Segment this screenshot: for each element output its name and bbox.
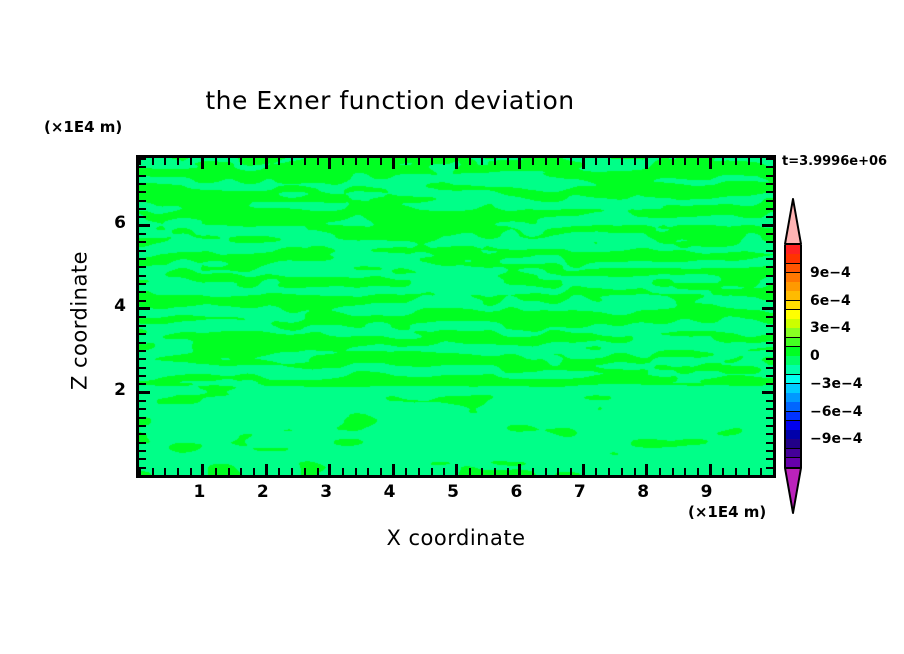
y-axis-minor-tick	[766, 367, 773, 369]
x-axis-minor-tick	[722, 158, 724, 165]
colorbar-over-arrow	[784, 198, 802, 245]
y-axis-minor-tick	[766, 400, 773, 402]
x-axis-minor-tick	[177, 158, 179, 165]
y-axis-major-tick	[139, 307, 150, 310]
y-axis-tick-label: 4	[86, 296, 126, 316]
x-axis-minor-tick	[164, 158, 166, 165]
colorbar-tick-label: 6e−4	[810, 293, 851, 309]
y-axis-minor-tick	[139, 367, 146, 369]
y-axis-minor-tick	[139, 417, 146, 419]
x-axis-minor-tick	[659, 158, 661, 165]
y-axis-minor-tick	[139, 316, 146, 318]
x-axis-minor-tick	[507, 158, 509, 165]
x-axis-minor-tick	[672, 158, 674, 165]
x-axis-minor-tick	[672, 468, 674, 475]
x-axis-minor-tick	[317, 158, 319, 165]
x-axis-title: X coordinate	[136, 528, 776, 549]
y-axis-minor-tick	[766, 467, 773, 469]
x-axis-minor-tick	[405, 468, 407, 475]
x-axis-tick-label: 2	[243, 482, 283, 502]
x-axis-minor-tick	[697, 158, 699, 165]
x-axis-minor-tick	[355, 158, 357, 165]
x-axis-minor-tick	[557, 158, 559, 165]
x-axis-minor-tick	[152, 468, 154, 475]
x-axis-minor-tick	[304, 158, 306, 165]
y-axis-minor-tick	[766, 158, 773, 160]
x-axis-major-tick	[265, 464, 268, 475]
y-axis-minor-tick	[139, 458, 146, 460]
x-axis-minor-tick	[545, 158, 547, 165]
x-axis-major-tick	[455, 464, 458, 475]
colorbar-tick-label: 9e−4	[810, 265, 851, 281]
x-axis-minor-tick	[367, 468, 369, 475]
x-axis-major-tick	[455, 158, 458, 169]
x-axis-minor-tick	[443, 158, 445, 165]
y-axis-minor-tick	[766, 425, 773, 427]
x-axis-minor-tick	[557, 468, 559, 475]
y-axis-major-tick	[762, 391, 773, 394]
x-axis-minor-tick	[291, 158, 293, 165]
y-axis-minor-tick	[139, 300, 146, 302]
x-axis-unit-label: (×1E4 m)	[688, 505, 766, 520]
y-axis-minor-tick	[139, 433, 146, 435]
x-axis-tick-label: 8	[623, 482, 663, 502]
x-axis-minor-tick	[659, 468, 661, 475]
x-axis-major-tick	[392, 464, 395, 475]
x-axis-minor-tick	[190, 468, 192, 475]
y-axis-minor-tick	[139, 383, 146, 385]
x-axis-major-tick	[201, 158, 204, 169]
y-axis-minor-tick	[766, 283, 773, 285]
x-axis-tick-label: 3	[306, 482, 346, 502]
x-axis-minor-tick	[494, 158, 496, 165]
y-axis-minor-tick	[766, 325, 773, 327]
y-axis-minor-tick	[139, 191, 146, 193]
x-axis-minor-tick	[621, 158, 623, 165]
y-axis-major-tick	[139, 224, 150, 227]
x-axis-minor-tick	[494, 468, 496, 475]
x-axis-minor-tick	[532, 158, 534, 165]
x-axis-major-tick	[709, 158, 712, 169]
x-axis-minor-tick	[228, 158, 230, 165]
x-axis-tick-label: 6	[496, 482, 536, 502]
y-axis-minor-tick	[766, 316, 773, 318]
y-axis-minor-tick	[766, 450, 773, 452]
x-axis-minor-tick	[177, 468, 179, 475]
y-axis-minor-tick	[139, 325, 146, 327]
y-axis-minor-tick	[766, 383, 773, 385]
x-axis-minor-tick	[760, 468, 762, 475]
y-axis-minor-tick	[766, 475, 773, 477]
x-axis-minor-tick	[164, 468, 166, 475]
timestamp-label: t=3.9996e+06	[782, 155, 887, 168]
y-axis-minor-tick	[139, 442, 146, 444]
x-axis-minor-tick	[355, 468, 357, 475]
x-axis-minor-tick	[634, 468, 636, 475]
x-axis-minor-tick	[760, 158, 762, 165]
x-axis-minor-tick	[608, 158, 610, 165]
x-axis-minor-tick	[380, 158, 382, 165]
x-axis-minor-tick	[190, 158, 192, 165]
y-axis-minor-tick	[766, 200, 773, 202]
y-axis-minor-tick	[766, 417, 773, 419]
x-axis-major-tick	[265, 158, 268, 169]
x-axis-minor-tick	[481, 158, 483, 165]
y-axis-minor-tick	[139, 408, 146, 410]
colorbar-tick-label: −3e−4	[810, 376, 862, 392]
x-axis-tick-label: 7	[560, 482, 600, 502]
y-axis-minor-tick	[766, 458, 773, 460]
x-axis-minor-tick	[431, 158, 433, 165]
x-axis-major-tick	[201, 464, 204, 475]
colorbar-under-arrow	[784, 467, 802, 514]
x-axis-minor-tick	[570, 468, 572, 475]
y-axis-minor-tick	[766, 233, 773, 235]
x-axis-major-tick	[328, 158, 331, 169]
x-axis-minor-tick	[418, 158, 420, 165]
y-axis-major-tick	[762, 224, 773, 227]
x-axis-minor-tick	[304, 468, 306, 475]
x-axis-major-tick	[518, 464, 521, 475]
x-axis-minor-tick	[139, 468, 141, 475]
x-axis-major-tick	[518, 158, 521, 169]
y-axis-minor-tick	[139, 291, 146, 293]
x-axis-minor-tick	[634, 158, 636, 165]
x-axis-minor-tick	[481, 468, 483, 475]
x-axis-minor-tick	[748, 158, 750, 165]
colorbar[interactable]	[784, 245, 802, 467]
x-axis-minor-tick	[380, 468, 382, 475]
y-axis-minor-tick	[139, 358, 146, 360]
x-axis-tick-label: 9	[687, 482, 727, 502]
y-axis-major-tick	[139, 391, 150, 394]
x-axis-minor-tick	[545, 468, 547, 475]
x-axis-minor-tick	[621, 468, 623, 475]
y-axis-minor-tick	[766, 258, 773, 260]
x-axis-minor-tick	[773, 158, 775, 165]
y-axis-minor-tick	[139, 342, 146, 344]
x-axis-minor-tick	[469, 158, 471, 165]
y-axis-minor-tick	[139, 350, 146, 352]
x-axis-minor-tick	[418, 468, 420, 475]
colorbar-tick-label: −6e−4	[810, 404, 862, 420]
y-axis-tick-label: 2	[86, 380, 126, 400]
y-axis-minor-tick	[139, 241, 146, 243]
y-axis-minor-tick	[139, 216, 146, 218]
y-axis-minor-tick	[139, 175, 146, 177]
x-axis-minor-tick	[240, 158, 242, 165]
y-axis-minor-tick	[766, 291, 773, 293]
x-axis-minor-tick	[253, 468, 255, 475]
figure-root: the Exner function deviation (×1E4 m) (×…	[0, 0, 904, 654]
y-axis-minor-tick	[139, 258, 146, 260]
y-axis-minor-tick	[139, 333, 146, 335]
y-axis-minor-tick	[766, 300, 773, 302]
x-axis-minor-tick	[405, 158, 407, 165]
y-axis-minor-tick	[766, 342, 773, 344]
y-axis-minor-tick	[766, 433, 773, 435]
x-axis-minor-tick	[431, 468, 433, 475]
x-axis-minor-tick	[684, 468, 686, 475]
x-axis-minor-tick	[697, 468, 699, 475]
y-axis-minor-tick	[766, 208, 773, 210]
y-axis-minor-tick	[139, 158, 146, 160]
x-axis-minor-tick	[595, 468, 597, 475]
y-axis-minor-tick	[139, 266, 146, 268]
page-title: the Exner function deviation	[0, 88, 780, 113]
y-axis-unit-label: (×1E4 m)	[44, 120, 122, 135]
x-axis-minor-tick	[152, 158, 154, 165]
x-axis-major-tick	[582, 158, 585, 169]
x-axis-minor-tick	[735, 468, 737, 475]
colorbar-tick-label: 0	[810, 348, 820, 364]
x-axis-minor-tick	[443, 468, 445, 475]
x-axis-minor-tick	[469, 468, 471, 475]
x-axis-minor-tick	[228, 468, 230, 475]
x-axis-minor-tick	[253, 158, 255, 165]
x-axis-minor-tick	[532, 468, 534, 475]
y-axis-minor-tick	[766, 250, 773, 252]
y-axis-minor-tick	[766, 166, 773, 168]
x-axis-major-tick	[392, 158, 395, 169]
x-axis-minor-tick	[278, 158, 280, 165]
x-axis-tick-label: 5	[433, 482, 473, 502]
y-axis-minor-tick	[139, 250, 146, 252]
x-axis-tick-label: 1	[179, 482, 219, 502]
y-axis-minor-tick	[139, 450, 146, 452]
y-axis-minor-tick	[139, 183, 146, 185]
x-axis-tick-label: 4	[370, 482, 410, 502]
colorbar-tick-label: 3e−4	[810, 320, 851, 336]
y-axis-minor-tick	[766, 358, 773, 360]
y-axis-minor-tick	[766, 216, 773, 218]
y-axis-minor-tick	[766, 375, 773, 377]
y-axis-minor-tick	[139, 283, 146, 285]
colorbar-tick-label: −9e−4	[810, 431, 862, 447]
y-axis-minor-tick	[139, 467, 146, 469]
contour-field	[139, 158, 773, 475]
x-axis-minor-tick	[317, 468, 319, 475]
y-axis-minor-tick	[139, 275, 146, 277]
y-axis-minor-tick	[139, 375, 146, 377]
x-axis-minor-tick	[735, 158, 737, 165]
x-axis-minor-tick	[507, 468, 509, 475]
x-axis-minor-tick	[722, 468, 724, 475]
y-axis-tick-label: 6	[86, 213, 126, 233]
y-axis-minor-tick	[139, 166, 146, 168]
y-axis-minor-tick	[766, 442, 773, 444]
x-axis-minor-tick	[278, 468, 280, 475]
x-axis-minor-tick	[773, 468, 775, 475]
x-axis-minor-tick	[342, 158, 344, 165]
x-axis-major-tick	[328, 464, 331, 475]
y-axis-minor-tick	[766, 408, 773, 410]
y-axis-major-tick	[762, 307, 773, 310]
y-axis-minor-tick	[139, 233, 146, 235]
x-axis-major-tick	[645, 464, 648, 475]
x-axis-major-tick	[582, 464, 585, 475]
y-axis-minor-tick	[139, 475, 146, 477]
x-axis-minor-tick	[215, 158, 217, 165]
y-axis-minor-tick	[139, 425, 146, 427]
y-axis-minor-tick	[139, 200, 146, 202]
y-axis-minor-tick	[766, 350, 773, 352]
y-axis-minor-tick	[766, 175, 773, 177]
x-axis-minor-tick	[342, 468, 344, 475]
x-axis-minor-tick	[215, 468, 217, 475]
y-axis-minor-tick	[766, 191, 773, 193]
x-axis-minor-tick	[291, 468, 293, 475]
y-axis-minor-tick	[766, 333, 773, 335]
y-axis-minor-tick	[766, 241, 773, 243]
x-axis-minor-tick	[570, 158, 572, 165]
x-axis-minor-tick	[748, 468, 750, 475]
plot-area[interactable]	[136, 155, 776, 478]
y-axis-minor-tick	[139, 208, 146, 210]
x-axis-minor-tick	[684, 158, 686, 165]
x-axis-minor-tick	[595, 158, 597, 165]
y-axis-minor-tick	[139, 400, 146, 402]
x-axis-minor-tick	[240, 468, 242, 475]
x-axis-major-tick	[645, 158, 648, 169]
y-axis-minor-tick	[766, 266, 773, 268]
x-axis-major-tick	[709, 464, 712, 475]
y-axis-minor-tick	[766, 183, 773, 185]
x-axis-minor-tick	[367, 158, 369, 165]
x-axis-minor-tick	[608, 468, 610, 475]
y-axis-minor-tick	[766, 275, 773, 277]
